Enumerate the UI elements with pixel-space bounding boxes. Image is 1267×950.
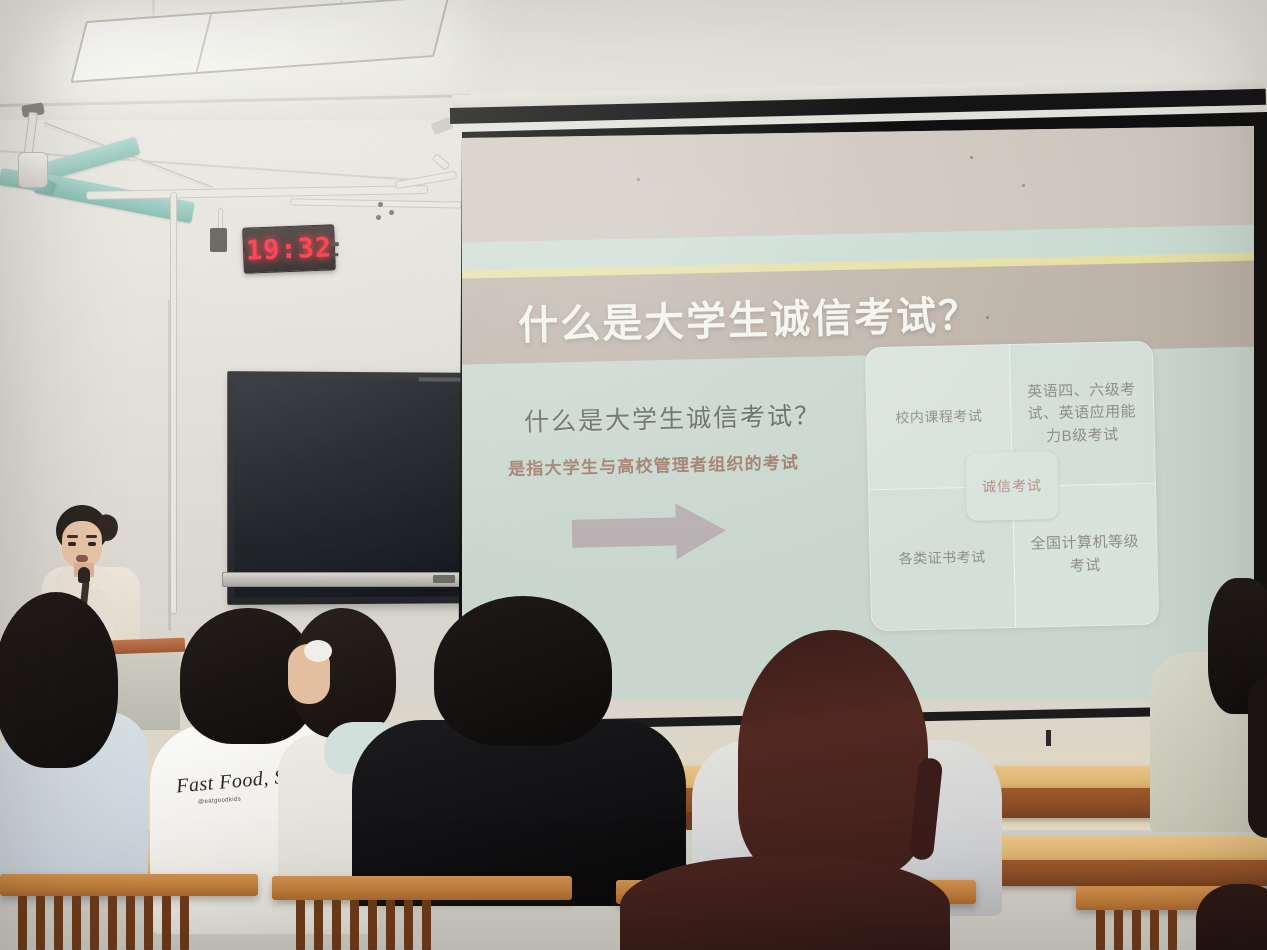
right-arrow-icon	[571, 502, 732, 562]
digital-clock: 19:32	[242, 224, 336, 273]
chair-slat	[350, 900, 359, 950]
screen-speck	[637, 178, 640, 181]
chair-slat	[386, 900, 395, 950]
chair-slat	[422, 900, 431, 950]
student-left-dark-hair	[0, 592, 150, 892]
chair-slat	[404, 900, 413, 950]
tray-marker	[433, 575, 455, 583]
chair-slat	[36, 896, 45, 950]
chair-slats	[18, 896, 189, 950]
student-right-sage-jacket	[1150, 578, 1267, 828]
chair-slat	[314, 900, 323, 950]
hair-tie	[304, 640, 332, 662]
chair-slat	[1150, 910, 1159, 950]
presenter-eyebrow	[86, 535, 97, 538]
presenter-eye	[88, 542, 96, 546]
wall-screw	[378, 202, 383, 207]
arrow-shaft	[572, 517, 681, 547]
chair-slat	[1168, 910, 1177, 950]
presenter-eyebrow	[67, 535, 78, 538]
classroom-presentation-photo: 19:32 Radical 什么是大学生诚信考试？ 什么是大学生诚信考试？ 是指…	[0, 0, 1267, 950]
chair-slat	[90, 896, 99, 950]
chair-backrest	[272, 876, 572, 900]
screen-speck	[986, 316, 989, 319]
student-hair	[738, 630, 928, 876]
student-hair	[620, 856, 950, 950]
rail-hook	[1046, 730, 1051, 746]
conduit-pipe	[170, 192, 177, 614]
chair-slat	[1096, 910, 1105, 950]
wall-screw	[389, 210, 394, 215]
chair-backrest	[0, 874, 258, 896]
student-hair	[0, 592, 118, 768]
chair-slat	[332, 900, 341, 950]
clock-knob	[331, 242, 339, 246]
wall-junction-box	[210, 228, 227, 252]
student-front-center	[620, 856, 950, 950]
blackboard-chalk-tray	[222, 572, 474, 587]
chair-slats	[296, 900, 431, 950]
student-front-right	[1196, 884, 1267, 950]
blackboard-label	[419, 377, 462, 381]
chair-slat	[296, 900, 305, 950]
chair-slat	[162, 896, 171, 950]
chair-slat	[144, 896, 153, 950]
quadrant-diagram: 校内课程考试 英语四、六级考试、英语应用能力B级考试 各类证书考试 全国计算机等…	[865, 341, 1159, 631]
chair-slat	[18, 896, 27, 950]
screen-speck	[1022, 184, 1025, 187]
student-hair-strand	[1248, 678, 1267, 838]
quadrant-center-label: 诚信考试	[965, 451, 1059, 521]
chair-slat	[1132, 910, 1141, 950]
chair-slat	[72, 896, 81, 950]
chair-slat	[54, 896, 63, 950]
wall-screw	[376, 215, 381, 220]
clock-time-display: 19:32	[249, 230, 328, 269]
presenter-mouth	[76, 555, 88, 562]
classroom-blackboard	[227, 371, 479, 605]
chair-slat	[180, 896, 189, 950]
chair-slat	[108, 896, 117, 950]
clock-knob	[332, 253, 338, 256]
fan-motor	[18, 152, 48, 188]
screen-speck	[970, 156, 973, 159]
student-black-blazer	[352, 596, 688, 896]
microphone-icon	[78, 567, 90, 583]
presenter-eye	[68, 542, 76, 546]
chair-slat	[126, 896, 135, 950]
arrow-head	[675, 502, 726, 559]
blackboard-surface	[234, 378, 472, 598]
student-hair	[1196, 884, 1267, 950]
chair-slat	[368, 900, 377, 950]
student-hair	[434, 596, 612, 746]
chair-slats	[1096, 910, 1177, 950]
chair-slat	[1114, 910, 1123, 950]
